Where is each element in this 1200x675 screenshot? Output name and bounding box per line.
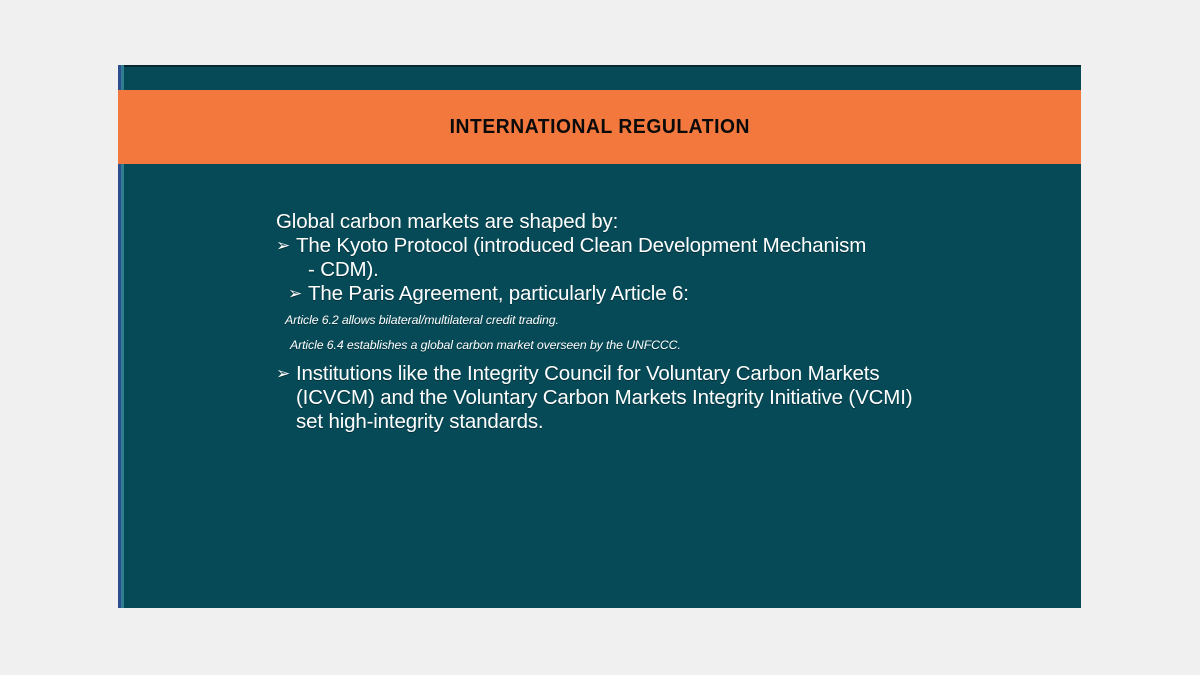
sub-note-article-6-4: Article 6.4 establishes a global carbon … [276, 337, 976, 353]
page-title: INTERNATIONAL REGULATION [449, 115, 749, 139]
slide-root: INTERNATIONAL REGULATION Global carbon m… [0, 0, 1200, 675]
list-item-label: The Kyoto Protocol (introduced Clean Dev… [296, 234, 976, 258]
list-item-continuation: - CDM). [276, 258, 976, 282]
arrow-bullet-icon: ➢ [276, 234, 296, 258]
list-item: ➢ The Kyoto Protocol (introduced Clean D… [276, 234, 976, 258]
list-item-label: Institutions like the Integrity Council … [296, 362, 936, 434]
list-item: ➢ The Paris Agreement, particularly Arti… [276, 282, 976, 306]
slide-body: Global carbon markets are shaped by: ➢ T… [276, 210, 976, 434]
title-banner: INTERNATIONAL REGULATION [118, 90, 1081, 164]
slide-top-rule [118, 65, 1081, 67]
arrow-bullet-icon: ➢ [276, 362, 296, 386]
list-item: ➢ Institutions like the Integrity Counci… [276, 362, 976, 434]
body-lead-text: Global carbon markets are shaped by: [276, 210, 976, 234]
sub-note-article-6-2: Article 6.2 allows bilateral/multilatera… [276, 312, 976, 328]
arrow-bullet-icon: ➢ [288, 282, 308, 306]
list-item-label: The Paris Agreement, particularly Articl… [308, 282, 976, 306]
